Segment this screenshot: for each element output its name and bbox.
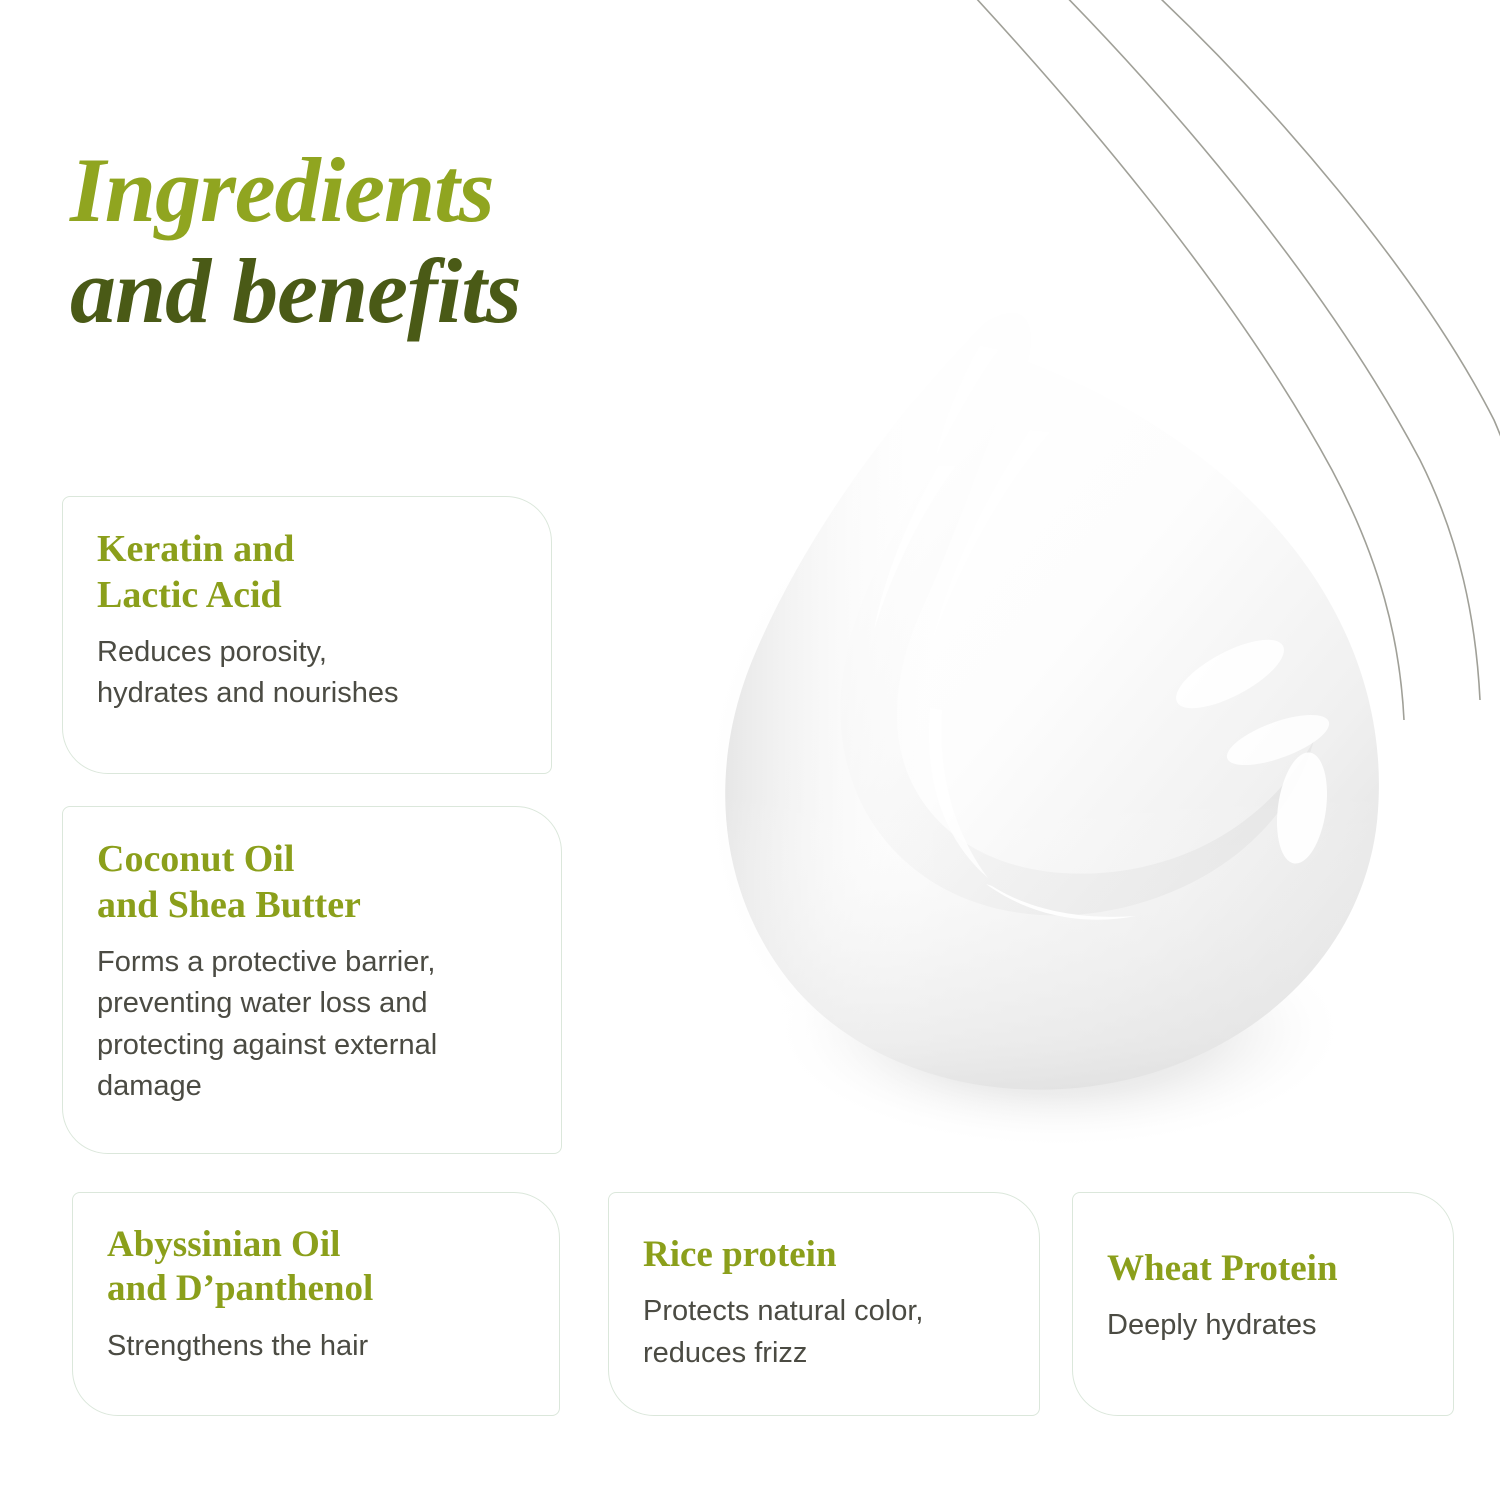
cream-body [725, 313, 1379, 1090]
cream-highlight-peak [936, 346, 998, 456]
cream-highlight-right-b [1221, 705, 1335, 776]
hair-strand-lines [880, 0, 1500, 760]
cream-left-shade [690, 330, 950, 1130]
ingredient-card-wheat-protein[interactable]: Wheat Protein Deeply hydrates [1072, 1192, 1454, 1416]
ingredients-infographic: Ingredients and benefits [0, 0, 1500, 1500]
page-title-line-1: Ingredients [70, 140, 770, 241]
cream-highlight-right-a [1167, 626, 1294, 721]
ingredient-card-title: Rice protein [643, 1233, 1005, 1277]
page-title: Ingredients and benefits [70, 140, 770, 342]
ingredient-card-title: Keratin and Lactic Acid [97, 527, 517, 618]
cream-dollop-image [630, 270, 1450, 1170]
cream-shadow [698, 460, 1298, 1120]
ingredient-card-title: Wheat Protein [1107, 1247, 1419, 1291]
ingredient-card-abyssinian-oil-dpanthenol[interactable]: Abyssinian Oil and D’panthenol Strengthe… [72, 1192, 560, 1416]
cream-shadow-bottom [770, 910, 1350, 1150]
cream-highlight-lower-arc [986, 884, 1136, 920]
ingredient-card-rice-protein[interactable]: Rice protein Protects natural color, red… [608, 1192, 1040, 1416]
page-title-line-2: and benefits [70, 241, 770, 342]
cream-highlight-ridge [932, 430, 1050, 642]
ingredient-card-title: Abyssinian Oil and D’panthenol [107, 1223, 525, 1312]
ingredient-card-description: Forms a protective barrier, preventing w… [97, 942, 527, 1107]
cream-bottom-shade [690, 790, 1410, 1150]
ingredient-card-description: Strengthens the hair [107, 1326, 525, 1367]
cream-highlight-upper-left [874, 466, 956, 630]
cream-highlight-valley [929, 708, 988, 878]
ingredient-card-description: Protects natural color, reduces frizz [643, 1291, 1005, 1373]
ingredient-card-coconut-oil-shea-butter[interactable]: Coconut Oil and Shea Butter Forms a prot… [62, 806, 562, 1154]
ingredient-card-title: Coconut Oil and Shea Butter [97, 837, 527, 928]
ingredient-card-description: Deeply hydrates [1107, 1305, 1419, 1346]
cream-swirl [840, 362, 1314, 916]
ingredient-card-keratin-lactic-acid[interactable]: Keratin and Lactic Acid Reduces porosity… [62, 496, 552, 774]
cream-highlight-right-c [1270, 749, 1333, 867]
ingredient-card-description: Reduces porosity, hydrates and nourishes [97, 632, 517, 714]
